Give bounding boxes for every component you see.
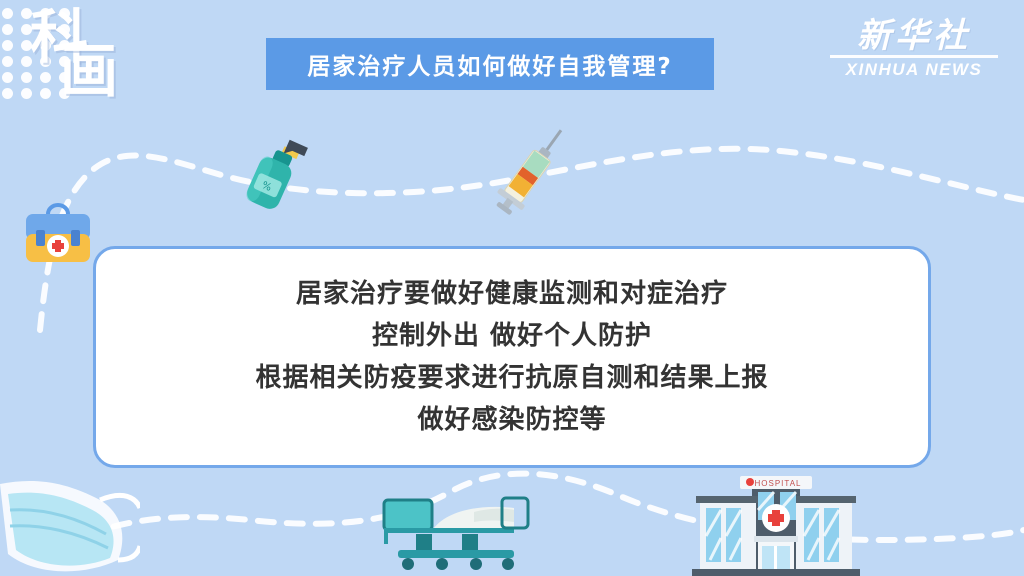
publisher-name-en: XINHUA NEWS xyxy=(828,61,1000,79)
title-banner: 居家治疗人员如何做好自我管理? xyxy=(266,38,714,90)
hospital-sign-text: HOSPITAL xyxy=(755,479,802,488)
publisher-name-cn: 新华社 xyxy=(828,18,1000,54)
publisher-logo: 新华社 XINHUA NEWS xyxy=(828,18,1000,79)
hospital-bed-illustration xyxy=(378,492,530,576)
page-title: 居家治疗人员如何做好自我管理? xyxy=(307,47,672,81)
program-logo: 科 画 xyxy=(30,14,150,106)
spray-bottle-illustration: % xyxy=(228,122,320,218)
infographic-canvas: 科 画 居家治疗人员如何做好自我管理? 新华社 XINHUA NEWS % xyxy=(0,0,1024,576)
content-line-1: 居家治疗要做好健康监测和对症治疗 xyxy=(296,273,728,315)
publisher-logo-rule xyxy=(830,55,998,58)
content-line-3: 根据相关防疫要求进行抗原自测和结果上报 xyxy=(255,357,768,399)
program-logo-char-bottom: 画 xyxy=(60,48,116,94)
content-line-4: 做好感染防控等 xyxy=(417,399,606,441)
syringe-illustration xyxy=(486,118,582,222)
content-card: 居家治疗要做好健康监测和对症治疗 控制外出 做好个人防护 根据相关防疫要求进行抗… xyxy=(93,246,931,468)
hospital-building-illustration: HOSPITAL xyxy=(688,470,864,576)
content-line-2: 控制外出 做好个人防护 xyxy=(372,315,652,357)
medical-kit-illustration xyxy=(18,198,98,270)
face-mask-illustration xyxy=(0,476,140,576)
